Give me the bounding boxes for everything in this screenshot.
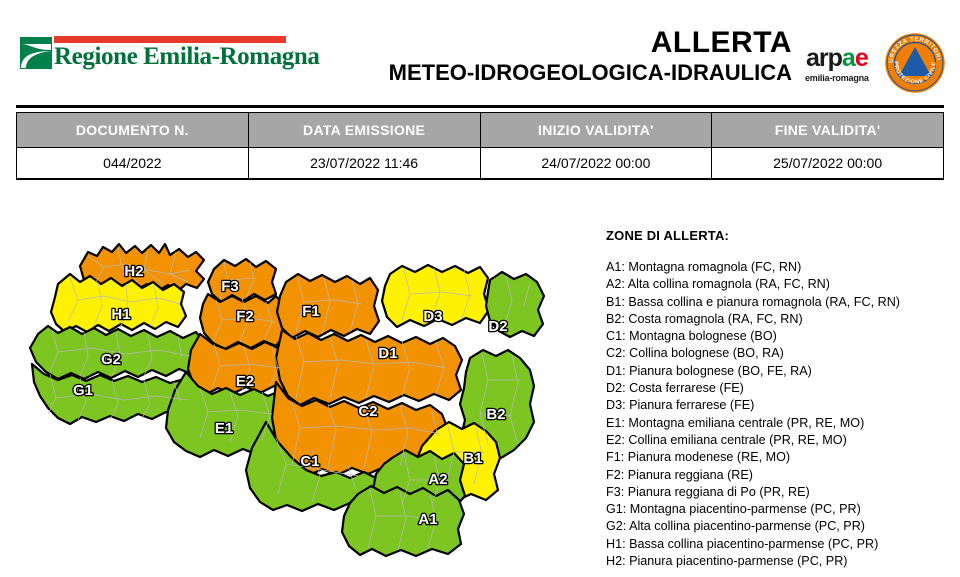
legend-item: C2: Collina bolognese (BO, RA): [606, 345, 956, 362]
table-cell-data-emissione: 23/07/2022 11:46: [248, 148, 480, 179]
map-zone-label-a1: A1: [418, 511, 437, 528]
map-zone-label-c2: C2: [358, 403, 377, 420]
page-header: Regione Emilia-Romagna ALLERTA METEO-IDR…: [0, 0, 960, 100]
map-zone-label-d3: D3: [423, 308, 442, 325]
legend-item: A1: Montagna romagnola (FC, RN): [606, 259, 956, 276]
legend-item: F2: Pianura reggiana (RE): [606, 467, 956, 484]
map-zone-label-c1: C1: [300, 453, 319, 470]
map-zone-label-e1: E1: [215, 420, 233, 437]
legend-item: B2: Costa romagnola (RA, FC, RN): [606, 311, 956, 328]
regione-wave-icon: [20, 37, 52, 69]
title-allerta: ALLERTA: [389, 26, 792, 60]
legend-item: H1: Bassa collina piacentino-parmense (P…: [606, 536, 956, 553]
map-zone-d1[interactable]: [276, 330, 462, 405]
arpae-word-green: a: [842, 44, 855, 72]
map-zone-label-d1: D1: [378, 345, 397, 362]
arpae-logo: arpae emilia-romagna: [805, 46, 869, 84]
map-zone-f1[interactable]: [277, 274, 379, 338]
map-zone-label-g1: G1: [73, 382, 93, 399]
legend-item: A2: Alta collina romagnola (RA, FC, RN): [606, 276, 956, 293]
arpae-word-red: e: [855, 44, 868, 72]
map-zone-label-f3: F3: [221, 278, 239, 295]
legend-item: D2: Costa ferrarese (FE): [606, 380, 956, 397]
table-header-row: DOCUMENTO N. DATA EMISSIONE INIZIO VALID…: [17, 113, 944, 148]
legend-title: ZONE DI ALLERTA:: [606, 228, 956, 243]
table-row: 044/2022 23/07/2022 11:46 24/07/2022 00:…: [17, 148, 944, 179]
legend-item: B1: Bassa collina e pianura romagnola (R…: [606, 294, 956, 311]
arpae-subtitle: emilia-romagna: [805, 73, 869, 84]
legend-item: F3: Pianura reggiana di Po (PR, RE): [606, 484, 956, 501]
regione-emilia-romagna-logo: Regione Emilia-Romagna: [20, 36, 320, 69]
map-zone-f3[interactable]: [208, 259, 276, 302]
alert-zones-map: H2H1G2G1F3F2F1E2E1D3D2D1C2C1B2B1A2A1: [18, 222, 583, 567]
map-zone-label-h1: H1: [111, 306, 130, 323]
legend-item: G2: Alta collina piacentino-parmense (PC…: [606, 518, 956, 535]
regione-red-bar: [54, 36, 286, 43]
legend-item: G1: Montagna piacentino-parmense (PC, PR…: [606, 501, 956, 518]
map-zone-a1[interactable]: [342, 486, 464, 556]
legend-item: D1: Pianura bolognese (BO, FE, RA): [606, 363, 956, 380]
map-zone-label-b2: B2: [486, 406, 505, 423]
map-zone-label-b1: B1: [463, 450, 482, 467]
title-subtype: METEO-IDROGEOLOGICA-IDRAULICA: [389, 60, 792, 86]
map-zone-label-a2: A2: [428, 471, 447, 488]
protezione-civile-logo: SICUREZZA TERRITORIALE PROTEZIONE CIVILE: [884, 32, 946, 99]
arpae-wordmark: arpae: [805, 46, 869, 71]
arpae-word-black: arp: [806, 44, 842, 72]
legend-item: F1: Pianura modenese (RE, MO): [606, 449, 956, 466]
legend-item: E1: Montagna emiliana centrale (PR, RE, …: [606, 415, 956, 432]
document-info-table: DOCUMENTO N. DATA EMISSIONE INIZIO VALID…: [16, 112, 944, 179]
header-divider-top: [16, 105, 944, 108]
legend-item: H2: Pianura piacentino-parmense (PC, PR): [606, 553, 956, 570]
legend-panel: ZONE DI ALLERTA: A1: Montagna romagnola …: [606, 228, 956, 570]
legend-item: C1: Montagna bolognese (BO): [606, 328, 956, 345]
legend-item: D3: Pianura ferrarese (FE): [606, 397, 956, 414]
map-zone-label-g2: G2: [101, 351, 121, 368]
regione-wordmark: Regione Emilia-Romagna: [54, 44, 320, 69]
map-zone-label-f1: F1: [302, 303, 320, 320]
table-header-documento: DOCUMENTO N.: [17, 113, 249, 148]
map-zone-label-f2: F2: [236, 308, 254, 325]
map-zone-label-d2: D2: [488, 318, 507, 335]
document-title: ALLERTA METEO-IDROGEOLOGICA-IDRAULICA: [389, 26, 792, 86]
legend-item: E2: Collina emiliana centrale (PR, RE, M…: [606, 432, 956, 449]
table-header-fine-validita: FINE VALIDITA': [712, 113, 944, 148]
legend-list: A1: Montagna romagnola (FC, RN)A2: Alta …: [606, 259, 956, 570]
regione-wordmark-block: Regione Emilia-Romagna: [54, 36, 320, 69]
table-cell-documento: 044/2022: [17, 148, 249, 179]
map-zone-label-e2: E2: [236, 373, 254, 390]
table-cell-inizio-validita: 24/07/2022 00:00: [480, 148, 712, 179]
map-zone-label-h2: H2: [124, 263, 143, 280]
table-header-inizio-validita: INIZIO VALIDITA': [480, 113, 712, 148]
header-divider-bottom: [16, 178, 944, 180]
table-cell-fine-validita: 25/07/2022 00:00: [712, 148, 944, 179]
table-header-data-emissione: DATA EMISSIONE: [248, 113, 480, 148]
